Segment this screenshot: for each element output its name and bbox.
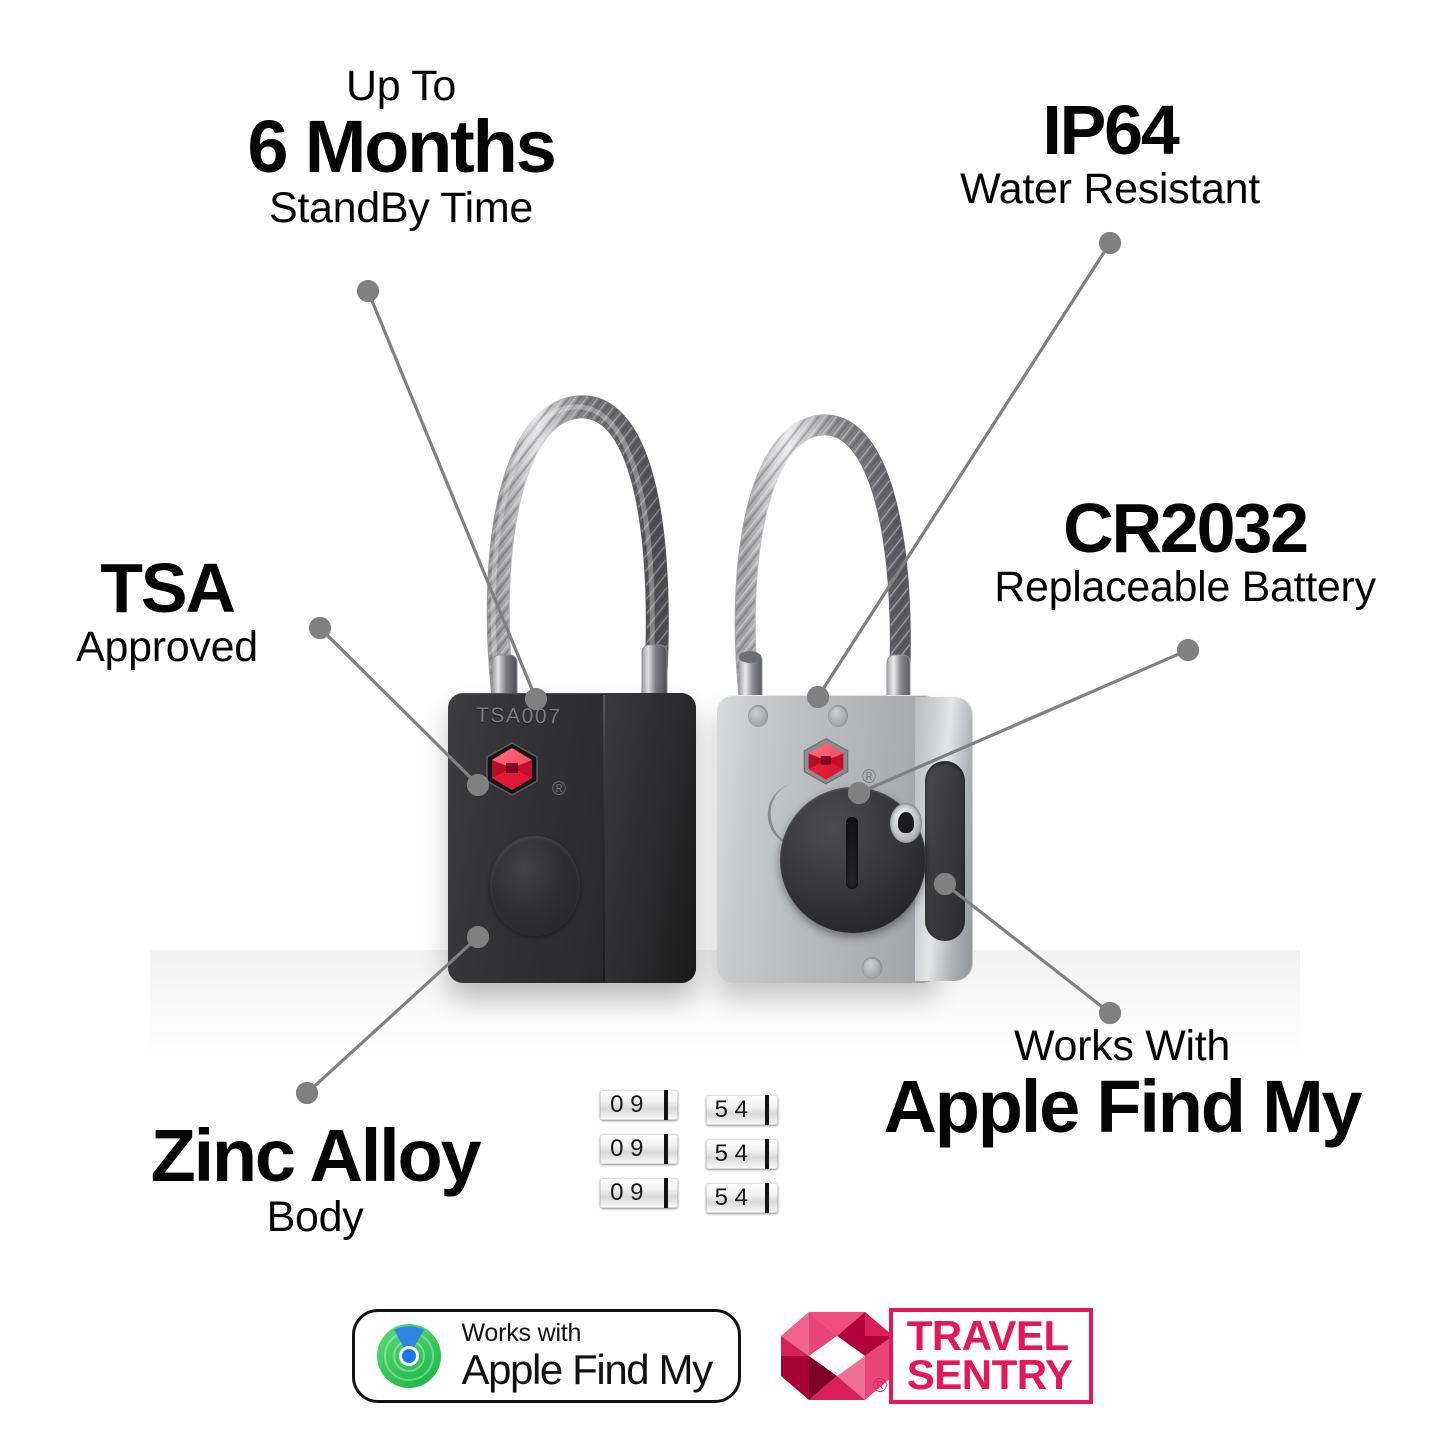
travel-sentry-diamond-icon: ® — [781, 1308, 893, 1404]
callout-cr2032-sub: Replaceable Battery — [960, 565, 1410, 610]
callout-ip64: IP64 Water Resistant — [920, 94, 1300, 212]
callout-apple-find-my: Works With Apple Find My — [832, 1024, 1412, 1146]
callout-zinc-sub: Body — [95, 1195, 535, 1240]
callout-findmy-small: Works With — [832, 1024, 1412, 1069]
find-my-badge-text: Works with Apple Find My — [461, 1321, 711, 1391]
travel-sentry-registered-mark: ® — [873, 1376, 887, 1397]
leader-dot-ip64-anchor — [809, 688, 828, 707]
leader-line-findmy — [945, 884, 1110, 1013]
find-my-radar-icon — [375, 1322, 443, 1390]
leader-dot-cr2032 — [1179, 641, 1198, 660]
callout-tsa-big: TSA — [22, 552, 312, 625]
callout-ip64-sub: Water Resistant — [920, 167, 1300, 212]
callout-ip64-big: IP64 — [920, 94, 1300, 167]
callout-standby-small: Up To — [176, 64, 626, 109]
leader-dot-findmy — [1101, 1004, 1120, 1023]
leader-dot-cr2032-anchor — [850, 784, 869, 803]
callout-cr2032-big: CR2032 — [960, 492, 1410, 565]
leader-dot-ip64 — [1101, 234, 1120, 253]
callout-standby-sub: StandBy Time — [176, 186, 626, 231]
callout-tsa: TSA Approved — [22, 552, 312, 670]
find-my-badge-line1: Works with — [461, 1321, 711, 1346]
callout-cr2032: CR2032 Replaceable Battery — [960, 492, 1410, 610]
leader-dot-standby-anchor — [527, 690, 546, 709]
callout-standby: Up To 6 Months StandBy Time — [176, 64, 626, 230]
callout-zinc-big: Zinc Alloy — [95, 1118, 535, 1195]
leader-dot-zinc — [298, 1084, 317, 1103]
leader-dot-zinc-anchor — [469, 928, 488, 947]
leader-dot-tsa — [311, 619, 330, 638]
infographic-canvas: TSA007 ® — [0, 0, 1445, 1445]
find-my-badge-line2: Apple Find My — [461, 1349, 711, 1391]
leader-dot-findmy-anchor — [936, 875, 955, 894]
certification-badges: Works with Apple Find My — [0, 1296, 1445, 1416]
leader-line-zinc — [307, 937, 478, 1093]
leader-line-cr2032 — [859, 650, 1188, 793]
travel-sentry-badge: ® TRAVEL SENTRY — [781, 1308, 1093, 1404]
travel-sentry-wordmark: TRAVEL SENTRY — [893, 1317, 1073, 1394]
travel-sentry-wordmark-box: TRAVEL SENTRY — [889, 1308, 1093, 1404]
callout-standby-big: 6 Months — [176, 109, 626, 186]
callout-tsa-sub: Approved — [22, 625, 312, 670]
works-with-apple-find-my-badge: Works with Apple Find My — [352, 1309, 740, 1403]
callout-findmy-big: Apple Find My — [832, 1069, 1412, 1146]
callout-zinc-alloy: Zinc Alloy Body — [95, 1118, 535, 1240]
leader-line-ip64 — [818, 243, 1110, 697]
travel-sentry-line2: SENTRY — [907, 1356, 1073, 1395]
leader-dot-standby — [359, 282, 378, 301]
leader-dot-tsa-anchor — [469, 776, 488, 795]
leader-line-tsa — [320, 628, 478, 785]
leader-line-standby — [368, 291, 536, 699]
